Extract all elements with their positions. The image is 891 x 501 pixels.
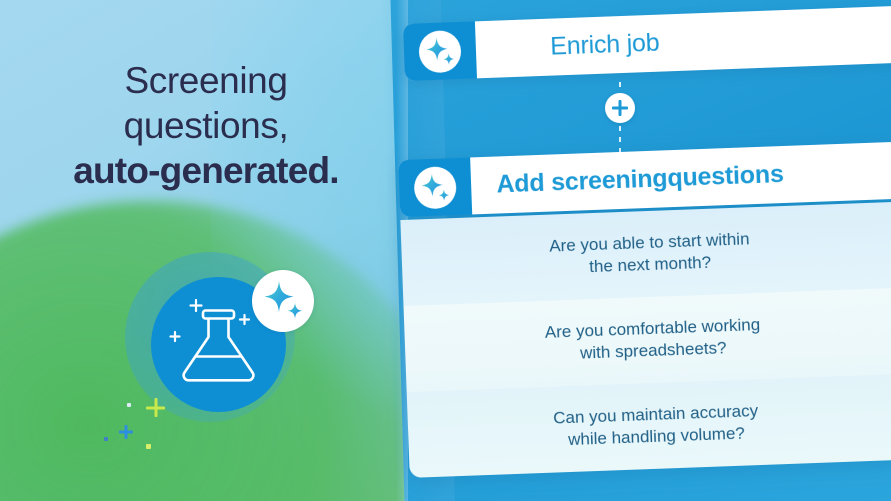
headline-line-1: Screening [28,58,384,103]
sparkle-icon [418,29,462,73]
sparkle-icon [413,166,457,210]
badge-circle [413,166,457,210]
dot-sparkle-white-icon [127,403,131,407]
card-badge-enrich-job [403,21,477,81]
flask-illustration [125,252,340,467]
headline-line-2: questions, [28,103,384,148]
question-row[interactable]: Can you maintain accuracy while handling… [407,374,891,478]
card-title-prefix: Add screening [496,164,668,199]
workflow-step-screening-questions[interactable]: Add screening questions Are you able to … [398,141,891,478]
page-title: Screening questions, auto-generated. [28,58,384,193]
card-title-emphasis: questions [667,160,784,193]
sparkle-icon [252,270,314,332]
sparkle-badge [252,270,314,332]
promo-screen: Screening questions, auto-generated. [0,0,891,501]
plus-sparkle-green-icon [146,398,165,417]
badge-circle [418,29,462,73]
card-badge-screening-questions [398,157,472,217]
plus-sparkle-blue-icon [119,425,133,439]
dot-sparkle-blue-icon [104,437,108,441]
headline-line-3: auto-generated. [28,148,384,193]
screening-questions-list: Are you able to start within the next mo… [400,202,891,478]
add-step-button[interactable] [605,93,635,123]
dot-sparkle-yellow-icon [146,444,151,449]
